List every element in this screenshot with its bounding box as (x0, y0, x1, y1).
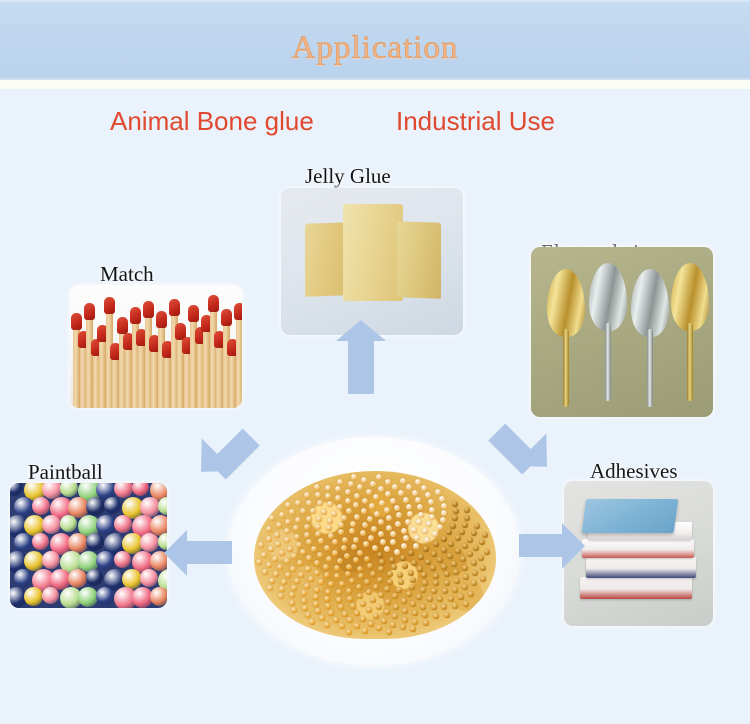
book (580, 577, 692, 599)
glue-granule (318, 579, 324, 585)
glue-granule (294, 578, 300, 584)
paintball (132, 483, 149, 496)
glue-granule (393, 604, 399, 610)
glue-granule (401, 543, 407, 549)
glue-granule (276, 522, 282, 528)
glue-granule (371, 526, 377, 532)
glue-granule (468, 591, 474, 597)
glue-granule (334, 565, 340, 571)
glue-granule (402, 608, 408, 614)
subtitle-industrial-use: Industrial Use (396, 106, 555, 137)
glue-granule (366, 489, 372, 495)
glue-granule (462, 584, 468, 590)
glue-granule (347, 596, 353, 602)
glue-granule (332, 550, 338, 556)
glue-granule (363, 541, 369, 547)
paintball (32, 533, 49, 550)
glue-granule (450, 523, 456, 529)
glue-granule (370, 597, 376, 603)
glue-granule (274, 532, 280, 538)
glue-granule (331, 511, 337, 517)
glue-granule (323, 564, 329, 570)
glue-granule (425, 559, 431, 565)
glue-granule (447, 553, 453, 559)
glue-granule (336, 589, 342, 595)
glue-granule (278, 593, 284, 599)
glue-granule (385, 479, 391, 485)
glue-granule (381, 618, 387, 624)
glue-granule (335, 495, 341, 501)
glue-granule (317, 552, 323, 558)
glue-granule (348, 481, 354, 487)
glue-granule (472, 570, 478, 576)
glue-granule (437, 557, 443, 563)
image-paintballs (10, 483, 167, 608)
paintball (104, 497, 121, 514)
glue-granule (346, 508, 352, 514)
glue-granule (304, 524, 310, 530)
glue-granule (376, 604, 382, 610)
glue-granule (480, 565, 486, 571)
paintball (14, 497, 34, 517)
glue-granule (324, 622, 330, 628)
glue-granule (354, 623, 360, 629)
glue-granule (324, 572, 330, 578)
glue-granule (258, 542, 264, 548)
glue-granule (290, 566, 296, 572)
glue-granule (351, 474, 357, 480)
glue-granule (362, 628, 368, 634)
glue-granule (460, 556, 466, 562)
paintball (114, 551, 131, 568)
glue-granule (338, 604, 344, 610)
glue-granule (339, 581, 345, 587)
glue-granule (398, 490, 404, 496)
glue-granule (324, 545, 330, 551)
glue-granule (467, 537, 473, 543)
image-electroplating (531, 247, 713, 417)
glue-granule (285, 519, 291, 525)
glue-granule (325, 493, 331, 499)
glue-granule (314, 560, 320, 566)
label-match: Match (100, 262, 154, 287)
glue-granule (386, 525, 392, 531)
glue-granule (432, 531, 438, 537)
glue-granule (353, 557, 359, 563)
paintball (86, 533, 104, 551)
glue-granule (451, 561, 457, 567)
paintball (42, 587, 59, 604)
glue-granule (391, 564, 397, 570)
glue-granule (346, 588, 352, 594)
glue-granule (441, 564, 447, 570)
glue-granule (402, 563, 408, 569)
glue-granule (431, 588, 437, 594)
glue-granule (400, 478, 406, 484)
glue-granule (462, 543, 468, 549)
matchstick (236, 315, 243, 408)
glue-granule (360, 530, 366, 536)
glue-granule (372, 545, 378, 551)
glue-granule (441, 503, 447, 509)
glue-granule (429, 507, 435, 513)
paintball (14, 533, 33, 552)
glue-granule (408, 570, 414, 576)
glue-granule (427, 596, 433, 602)
glue-granule (464, 515, 470, 521)
glue-granule (458, 594, 464, 600)
arrow-up-to-jelly-glue (348, 339, 374, 394)
glue-granule (346, 629, 352, 635)
glue-granule (315, 492, 321, 498)
paintball (42, 551, 60, 569)
glue-granule (384, 586, 390, 592)
paintball (96, 515, 116, 535)
glue-granule (313, 594, 319, 600)
arrow-left-to-paintball (186, 541, 232, 564)
glue-granule (402, 617, 408, 623)
glue-granule (314, 587, 320, 593)
glue-granule (268, 546, 274, 552)
glue-granule (298, 572, 304, 578)
header-divider (0, 80, 750, 89)
book (582, 539, 694, 558)
glue-granule (478, 555, 484, 561)
glue-granule (273, 571, 279, 577)
glue-granule (361, 477, 367, 483)
paintball (140, 569, 158, 587)
glue-granule (431, 551, 437, 557)
glue-granule (309, 619, 315, 625)
glue-granule (304, 532, 310, 538)
glue-granule (301, 598, 307, 604)
glue-granule (333, 617, 339, 623)
glue-granule (433, 580, 439, 586)
glue-granule (279, 586, 285, 592)
glue-granule (464, 507, 470, 513)
glue-granule (341, 545, 347, 551)
glue-granule (463, 601, 469, 607)
glue-granule (397, 572, 403, 578)
glue-granule (423, 620, 429, 626)
glue-granule (444, 571, 450, 577)
glue-granule (471, 560, 477, 566)
glue-granule (291, 607, 297, 613)
paintball (96, 551, 115, 570)
image-adhesives (564, 481, 713, 626)
glue-granule (328, 533, 334, 539)
glue-granule (459, 529, 465, 535)
glue-granule (289, 600, 295, 606)
glue-granule (304, 583, 310, 589)
glue-granule (366, 607, 372, 613)
glue-granule (452, 587, 458, 593)
glue-granule (357, 566, 363, 572)
glue-granule (269, 578, 275, 584)
glue-granule (338, 522, 344, 528)
glue-granule (339, 623, 345, 629)
glue-granule (433, 573, 439, 579)
glue-granule (392, 593, 398, 599)
glue-granule (390, 498, 396, 504)
glue-granule (396, 512, 402, 518)
glue-granule (337, 479, 343, 485)
glue-granule (413, 543, 419, 549)
glue-granule (406, 484, 412, 490)
paintball (96, 587, 114, 605)
glue-granule (285, 572, 291, 578)
glue-granule (387, 571, 393, 577)
glue-granule (281, 579, 287, 585)
glue-granule (256, 559, 262, 565)
glue-granule (441, 547, 447, 553)
glue-granule (400, 624, 406, 630)
glue-granule (370, 481, 376, 487)
jelly-bar (397, 221, 441, 299)
paintball (114, 515, 132, 533)
glue-granule (314, 484, 320, 490)
glue-granule (354, 493, 360, 499)
glue-granule (306, 500, 312, 506)
glue-granule (306, 516, 312, 522)
glue-granule (411, 560, 417, 566)
glue-granule (423, 546, 429, 552)
glue-granule (378, 486, 384, 492)
paintball (78, 587, 98, 607)
paintball (114, 483, 133, 498)
glue-granule (379, 559, 385, 565)
glue-granule (390, 622, 396, 628)
glue-granule (403, 497, 409, 503)
glue-granule (284, 558, 290, 564)
glue-granule (354, 610, 360, 616)
glue-granule (296, 542, 302, 548)
glue-granule (300, 549, 306, 555)
glue-granule (452, 603, 458, 609)
paintball (122, 569, 142, 589)
glue-granule (362, 522, 368, 528)
subtitle-animal-bone-glue: Animal Bone glue (110, 106, 314, 137)
glue-granule (314, 570, 320, 576)
glue-granule (266, 562, 272, 568)
image-matchsticks (70, 285, 242, 408)
glue-granule (378, 531, 384, 537)
glue-granule (422, 612, 428, 618)
paintball (68, 533, 88, 553)
glue-granule (484, 549, 490, 555)
glue-granule (378, 566, 384, 572)
glue-granule (420, 604, 426, 610)
glue-granule (319, 615, 325, 621)
glue-granule (305, 612, 311, 618)
glue-granule (455, 535, 461, 541)
label-jelly-glue: Jelly Glue (305, 164, 391, 189)
glue-granule (357, 593, 363, 599)
glue-granule (452, 501, 458, 507)
glue-granule (410, 577, 416, 583)
glue-granule (337, 504, 343, 510)
glue-granule (376, 474, 382, 480)
paintball (158, 497, 167, 515)
image-jelly-glue (281, 188, 463, 335)
glue-granule (401, 528, 407, 534)
paintball (140, 497, 160, 517)
glue-granule (284, 537, 290, 543)
glue-granule (341, 515, 347, 521)
glue-granule (390, 539, 396, 545)
glue-granule (433, 541, 439, 547)
glue-granule (482, 532, 488, 538)
paintball (42, 515, 61, 534)
glue-granule (444, 612, 450, 618)
glue-granule (361, 508, 367, 514)
glue-granule (302, 605, 308, 611)
glue-granule (287, 546, 293, 552)
glue-granule (368, 535, 374, 541)
glue-granule (389, 557, 395, 563)
paintball (32, 497, 50, 515)
glue-granule (417, 566, 423, 572)
glue-granule (474, 523, 480, 529)
glue-granule (345, 498, 351, 504)
glue-granule (441, 536, 447, 542)
application-poster: Application Animal Bone glue Industrial … (0, 0, 750, 724)
glue-granule (285, 502, 291, 508)
glue-granule (305, 566, 311, 572)
page-title: Application (0, 30, 750, 67)
glue-granule (325, 589, 331, 595)
glue-granule (395, 521, 401, 527)
glue-granule (279, 512, 285, 518)
glue-granule (347, 617, 353, 623)
glue-granule (311, 546, 317, 552)
glue-granule (262, 569, 268, 575)
paintball (24, 587, 43, 606)
glue-granule (304, 492, 310, 498)
paintball (86, 569, 103, 586)
glue-granule (321, 509, 327, 515)
glue-granule (408, 550, 414, 556)
glue-granule (368, 621, 374, 627)
paintball (140, 533, 159, 552)
glue-granule (308, 576, 314, 582)
glue-granule (367, 516, 373, 522)
glue-granule (414, 535, 420, 541)
glue-granule (295, 517, 301, 523)
glue-granule (422, 580, 428, 586)
glue-granule (294, 534, 300, 540)
glue-granule (384, 609, 390, 615)
glue-granule (315, 524, 321, 530)
glue-granule (418, 512, 424, 518)
book-top-cover (582, 499, 679, 533)
glue-granule (373, 494, 379, 500)
glue-granule (415, 479, 421, 485)
glue-granule (272, 556, 278, 562)
glue-granule (328, 581, 334, 587)
glue-granule (403, 535, 409, 541)
paintball (24, 551, 44, 571)
glue-granule (406, 504, 412, 510)
glue-granule (407, 511, 413, 517)
glue-granule (377, 577, 383, 583)
glue-granule (444, 580, 450, 586)
glue-granule (284, 528, 290, 534)
glue-granule (326, 556, 332, 562)
glue-granule (373, 584, 379, 590)
glue-granule (392, 484, 398, 490)
glue-granule (366, 589, 372, 595)
glue-granule (384, 507, 390, 513)
glue-granule (418, 554, 424, 560)
paintball (60, 483, 78, 497)
glue-granule (291, 585, 297, 591)
glue-granule (310, 508, 316, 514)
paintball (86, 497, 105, 516)
glue-granule (433, 613, 439, 619)
glue-granule (439, 496, 445, 502)
glue-granule (453, 508, 459, 514)
paintball (150, 587, 167, 606)
center-product-image (228, 437, 520, 666)
arrow-right-to-adhesives (519, 534, 563, 557)
glue-granule (386, 515, 392, 521)
glue-granule (367, 563, 373, 569)
glue-granule (346, 564, 352, 570)
paintball (10, 483, 23, 496)
glue-granule (442, 588, 448, 594)
glue-granule (362, 498, 368, 504)
glue-granule (313, 601, 319, 607)
glue-granule (356, 584, 362, 590)
glue-granule (360, 616, 366, 622)
glue-granule (385, 599, 391, 605)
glue-granule (325, 485, 331, 491)
glue-granule (416, 519, 422, 525)
glue-granule (374, 511, 380, 517)
glue-granule (379, 500, 385, 506)
glue-granule (300, 508, 306, 514)
glue-granule (373, 613, 379, 619)
glue-granule (422, 528, 428, 534)
glue-granule (378, 519, 384, 525)
glue-granule (364, 579, 370, 585)
glue-granule (396, 587, 402, 593)
glue-granule (317, 500, 323, 506)
glue-granule (266, 536, 272, 542)
glue-granule (412, 490, 418, 496)
glue-granule (454, 578, 460, 584)
glue-granule (342, 537, 348, 543)
glue-granule (349, 578, 355, 584)
glue-granule (342, 611, 348, 617)
glue-granule (370, 571, 376, 577)
glue-granule (350, 521, 356, 527)
glue-granule (479, 539, 485, 545)
glue-granule (380, 539, 386, 545)
glue-granule (429, 514, 435, 520)
book (586, 557, 696, 578)
glue-granule (353, 537, 359, 543)
paintball (68, 569, 87, 588)
glue-granule (394, 505, 400, 511)
paintball (60, 515, 77, 532)
glue-granule (394, 549, 400, 555)
glue-granule (471, 530, 477, 536)
glue-granule (336, 597, 342, 603)
glue-granule (386, 629, 392, 635)
glue-granule (400, 555, 406, 561)
